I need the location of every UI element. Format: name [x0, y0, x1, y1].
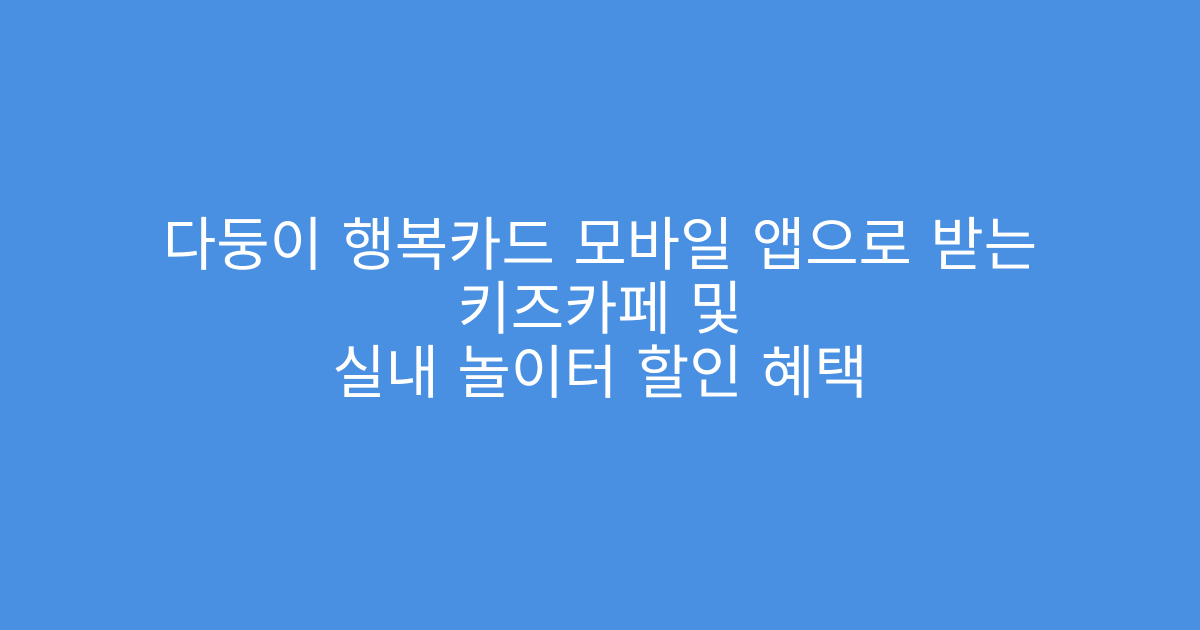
banner-canvas: 다둥이 행복카드 모바일 앱으로 받는 키즈카페 및 실내 놀이터 할인 혜택 — [0, 0, 1200, 630]
banner-title: 다둥이 행복카드 모바일 앱으로 받는 키즈카페 및 실내 놀이터 할인 혜택 — [50, 213, 1150, 405]
